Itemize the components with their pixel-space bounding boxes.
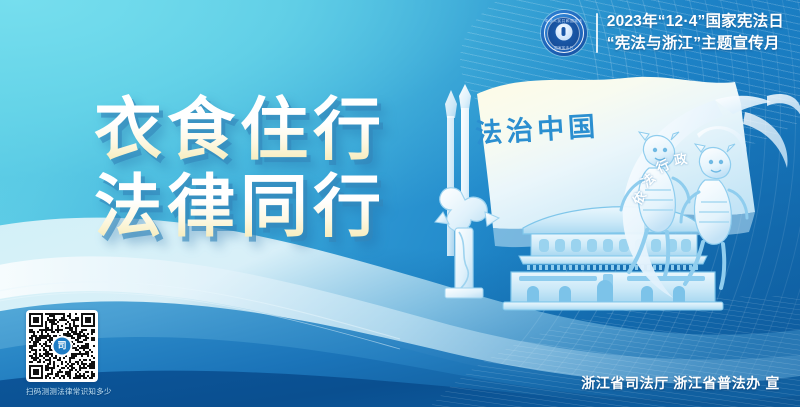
constitution-day-poster: 中华人民共和国宪法 国家宪法日 2023年“12·4”国家宪法日 “宪法与浙江”… bbox=[0, 0, 800, 407]
ribbon-text: 依 法 行 政 bbox=[628, 148, 708, 228]
header-line-1: 2023年“12·4”国家宪法日 bbox=[607, 12, 784, 32]
qr-code-block[interactable]: 司 扫码测测法律常识知多少 bbox=[26, 310, 112, 397]
ribbon-char-4: 政 bbox=[672, 148, 688, 169]
title-line-2: 法律同行 bbox=[94, 169, 386, 246]
header-badge: 中华人民共和国宪法 国家宪法日 2023年“12·4”国家宪法日 “宪法与浙江”… bbox=[541, 10, 784, 56]
ribbon-char-2: 法 bbox=[636, 168, 658, 191]
emblem-core-icon bbox=[555, 23, 572, 40]
footer-credits: 浙江省司法厅 浙江省普法办 宣 bbox=[581, 373, 780, 393]
header-line-2: “宪法与浙江”主题宣传月 bbox=[607, 34, 784, 54]
illustration-artwork bbox=[415, 60, 800, 320]
qr-code-image[interactable]: 司 bbox=[26, 310, 98, 382]
huabiao-pillar bbox=[435, 188, 499, 298]
poster-title: 衣食住行 法律同行 bbox=[94, 92, 386, 246]
header-text-block: 2023年“12·4”国家宪法日 “宪法与浙江”主题宣传月 bbox=[607, 12, 784, 54]
flag-text: 法治中国 bbox=[474, 104, 600, 150]
header-divider bbox=[596, 13, 598, 53]
emblem-bottom-text: 国家宪法日 bbox=[554, 45, 573, 50]
national-emblem-icon: 中华人民共和国宪法 国家宪法日 bbox=[541, 10, 587, 56]
ribbon-char-3: 行 bbox=[652, 154, 672, 177]
qr-caption: 扫码测测法律常识知多少 bbox=[26, 386, 112, 397]
main-illustration: 法治中国 依 法 行 政 bbox=[415, 60, 800, 320]
title-line-1: 衣食住行 bbox=[94, 92, 386, 169]
ribbon-char-1: 依 bbox=[627, 187, 650, 208]
qr-center-logo: 司 bbox=[52, 336, 73, 357]
